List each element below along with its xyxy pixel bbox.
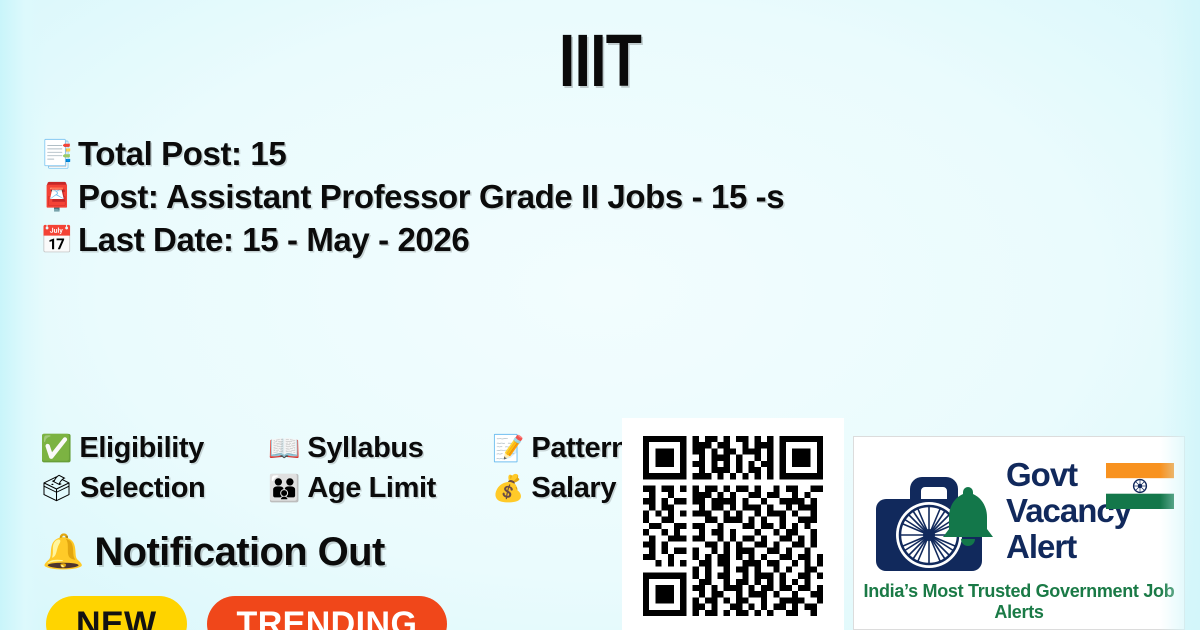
tag-syllabus[interactable]: 📖 Syllabus (268, 431, 476, 465)
qr-code-card[interactable] (622, 418, 844, 630)
detail-row-post: 📮 Post: Assistant Professor Grade II Job… (40, 177, 1180, 217)
post-stamp-icon: 📮 (40, 177, 78, 217)
check-mark-icon: ✅ (40, 431, 72, 465)
status-badge-trending[interactable]: TRENDING (207, 596, 448, 630)
tag-salary[interactable]: 💰 Salary (492, 471, 616, 505)
detail-row-last-date: 📅 Last Date: 15 - May - 2026 (40, 220, 1180, 260)
money-bag-icon: 💰 (492, 471, 524, 505)
details-block: 📑 Total Post: 15 📮 Post: Assistant Profe… (40, 134, 1180, 263)
detail-last-date-text: Last Date: 15 - May - 2026 (78, 220, 469, 260)
status-pills: NEW TRENDING (46, 596, 467, 630)
tag-age-limit[interactable]: 👪 Age Limit (268, 471, 476, 505)
brand-line-1: Govt (1006, 457, 1122, 493)
detail-total-post-text: Total Post: 15 (78, 134, 286, 174)
tag-eligibility[interactable]: ✅ Eligibility (40, 431, 252, 465)
tag-selection-label: Selection (80, 471, 205, 505)
notification-out-banner: 🔔 Notification Out (42, 528, 385, 576)
tag-eligibility-label: Eligibility (79, 431, 204, 465)
family-icon: 👪 (268, 471, 300, 505)
brand-line-3: Alert (1006, 529, 1122, 565)
info-tags-block: ✅ Eligibility 📖 Syllabus 📝 Pattern 🗳 Sel… (40, 428, 700, 508)
info-tags-row-1: ✅ Eligibility 📖 Syllabus 📝 Pattern (40, 428, 700, 468)
notification-out-label: Notification Out (94, 528, 384, 576)
calendar-icon: 📅 (40, 220, 78, 260)
page-title: IIIT (120, 24, 1080, 98)
info-tags-row-2: 🗳 Selection 👪 Age Limit 💰 Salary (40, 468, 700, 508)
tag-age-limit-label: Age Limit (307, 471, 436, 505)
status-badge-new[interactable]: NEW (46, 596, 187, 630)
brand-line-2: Vacancy (1006, 493, 1122, 529)
bell-icon: 🔔 (42, 528, 84, 576)
ballot-box-icon: 🗳 (40, 471, 73, 505)
brand-logo-card[interactable]: Govt Vacancy Alert India’s Most Trusted … (853, 436, 1185, 630)
tag-salary-label: Salary (531, 471, 616, 505)
open-book-icon: 📖 (268, 431, 300, 465)
india-flag-icon (1106, 463, 1174, 509)
poster-canvas: IIIT 📑 Total Post: 15 📮 Post: Assistant … (0, 0, 1200, 630)
qr-code-image (642, 436, 824, 616)
briefcase-chakra-bell-logo (868, 459, 1008, 581)
detail-row-total-post: 📑 Total Post: 15 (40, 134, 1180, 174)
tag-selection[interactable]: 🗳 Selection (40, 471, 252, 505)
detail-post-text: Post: Assistant Professor Grade II Jobs … (78, 177, 784, 217)
tag-pattern-label: Pattern (531, 431, 628, 465)
job-document-icon: 📑 (40, 134, 78, 174)
tag-pattern[interactable]: 📝 Pattern (492, 431, 629, 465)
tag-syllabus-label: Syllabus (307, 431, 423, 465)
brand-wordmark: Govt Vacancy Alert (1006, 457, 1122, 565)
brand-tagline: India’s Most Trusted Government Job Aler… (854, 581, 1184, 623)
exam-paper-icon: 📝 (492, 431, 524, 465)
